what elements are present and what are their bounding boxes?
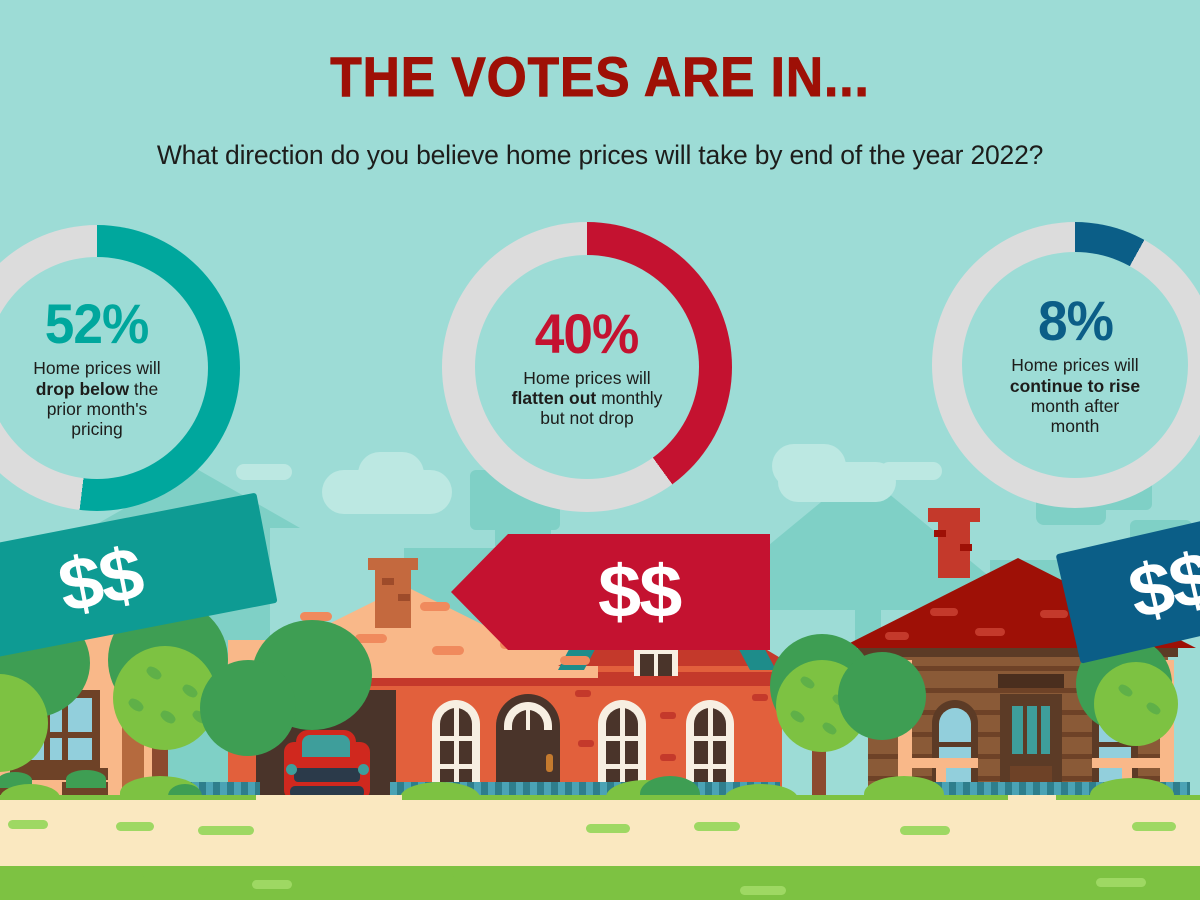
tree-bg-2 [200,660,296,756]
house-center-brick-speck-3 [752,694,768,701]
donut-flatten-out-after: monthly [596,388,662,408]
house-center-roof-tile-4 [420,602,450,611]
house-right-roof-tile-1 [930,608,958,616]
house-center-attic-pane-1 [640,654,654,676]
donut-flatten-out-label: Home prices will flatten out monthly but… [481,368,693,429]
house-center-window-2-mullion-v [620,708,625,792]
house-right-roof-tile-2 [975,628,1005,636]
house-center-window-2-mullion-h2 [606,764,638,769]
house-right-door-pane-line-1 [1023,706,1027,754]
banner-flat[interactable]: $$ [508,534,770,650]
house-center-brick-speck-2 [660,712,676,719]
house-center-window-1-mullion-h2 [440,764,472,769]
house-right-door-window [1012,706,1050,754]
donut-drop-below-line4: pricing [71,419,123,439]
donut-drop-below-after: the [129,379,158,399]
banner-down-label: $$ [53,536,148,624]
donut-chart-continue-to-rise[interactable]: 8% Home prices will continue to rise mon… [932,222,1200,508]
grass-blade-2 [116,822,154,831]
lawn-notch-left [0,866,150,900]
donut-continue-to-rise-line1: Home prices will [1011,355,1138,375]
grass-blade-5 [694,822,740,831]
donut-flatten-out-bold: flatten out [512,388,597,408]
donut-continue-to-rise-line3: month after [1031,396,1120,416]
donut-continue-to-rise-label: Home prices will continue to rise month … [977,355,1173,436]
house-center-window-3-mullion-v [708,708,713,792]
grass-blade-9 [740,886,786,895]
house-right-roof-tile-4 [1040,610,1068,618]
donut-flatten-out-line3: but not drop [540,408,633,428]
banner-up-label: $$ [1122,540,1200,631]
donut-continue-to-rise-line4: month [1051,416,1100,436]
grass-blade-1 [8,820,48,829]
house-center-attic-pane-2 [658,654,672,676]
lawn-notch-mid [200,866,460,900]
donut-continue-to-rise-bold: continue to rise [1010,376,1140,396]
house-right-roof-tile-3 [885,632,909,640]
house-center-brick-speck-4 [660,754,676,761]
banner-flat-label: $$ [598,555,680,629]
grass-blade-3 [198,826,254,835]
house-center-brick-speck-1 [575,690,591,697]
house-center-window-1-mullion-h [440,736,472,741]
grass-blade-6 [900,826,950,835]
grass-blade-7 [1132,822,1176,831]
donut-drop-below-center: 52% Home prices will drop below the prio… [0,257,208,479]
page-subtitle: What direction do you believe home price… [0,140,1200,171]
infographic-canvas: $$ $$ $$ 52% Home prices will drop below… [0,0,1200,900]
grass-blade-10 [1096,878,1146,887]
house-center-chimney-cap [368,558,418,570]
page-title: THE VOTES ARE IN... [48,44,1152,109]
donut-continue-to-rise-percent: 8% [1038,293,1113,349]
house-center-window-3-mullion-h [694,736,726,741]
driveway [256,795,402,835]
house-right-window-left-mullion [939,742,971,747]
donut-drop-below-line3: prior month's [47,399,148,419]
house-center-door-handle [546,754,553,772]
house-center-window-3-mullion-h2 [694,764,726,769]
house-right-chimney-brick-1 [934,530,946,537]
grass-blade-8 [252,880,292,889]
tree-bg-3-light [1094,662,1178,746]
donut-drop-below-label: Home prices will drop below the prior mo… [2,358,192,439]
house-center-roof-tile-7 [560,656,590,665]
tree-bg-4 [838,652,926,740]
donut-drop-below-percent: 52% [45,296,149,352]
cloud-4 [236,464,292,480]
donut-flatten-out-center: 40% Home prices will flatten out monthly… [475,255,699,479]
donut-chart-flatten-out[interactable]: 40% Home prices will flatten out monthly… [442,222,732,512]
cloud-2b [772,444,846,488]
house-right-door-pane-line-2 [1037,706,1041,754]
front-walk [1008,795,1056,831]
donut-drop-below-bold: drop below [36,379,129,399]
house-right-chimney-cap [928,508,980,522]
cloud-3 [880,462,942,480]
house-center-brick-speck-5 [578,740,594,747]
car-headlight-left [286,764,297,775]
car-grille [294,768,360,782]
house-center-window-2-mullion-h [606,736,638,741]
house-left-planter-bush-2 [66,770,106,788]
donut-flatten-out-percent: 40% [535,306,639,362]
donut-flatten-out-line1: Home prices will [523,368,650,388]
grass-blade-4 [586,824,630,833]
house-center-chimney-brick-2 [398,594,410,601]
house-center-chimney-brick-1 [382,578,394,585]
donut-drop-below-line1: Home prices will [33,358,160,378]
house-center-window-1-mullion-v [454,708,459,792]
house-right-chimney-brick-2 [960,544,972,551]
house-right-lintel [998,674,1064,688]
donut-continue-to-rise-center: 8% Home prices will continue to rise mon… [962,252,1188,478]
cloud-1b [358,452,424,496]
car-windshield [302,735,350,757]
car-headlight-right [358,764,369,775]
house-center-door-fanlight-mullion [526,710,530,730]
